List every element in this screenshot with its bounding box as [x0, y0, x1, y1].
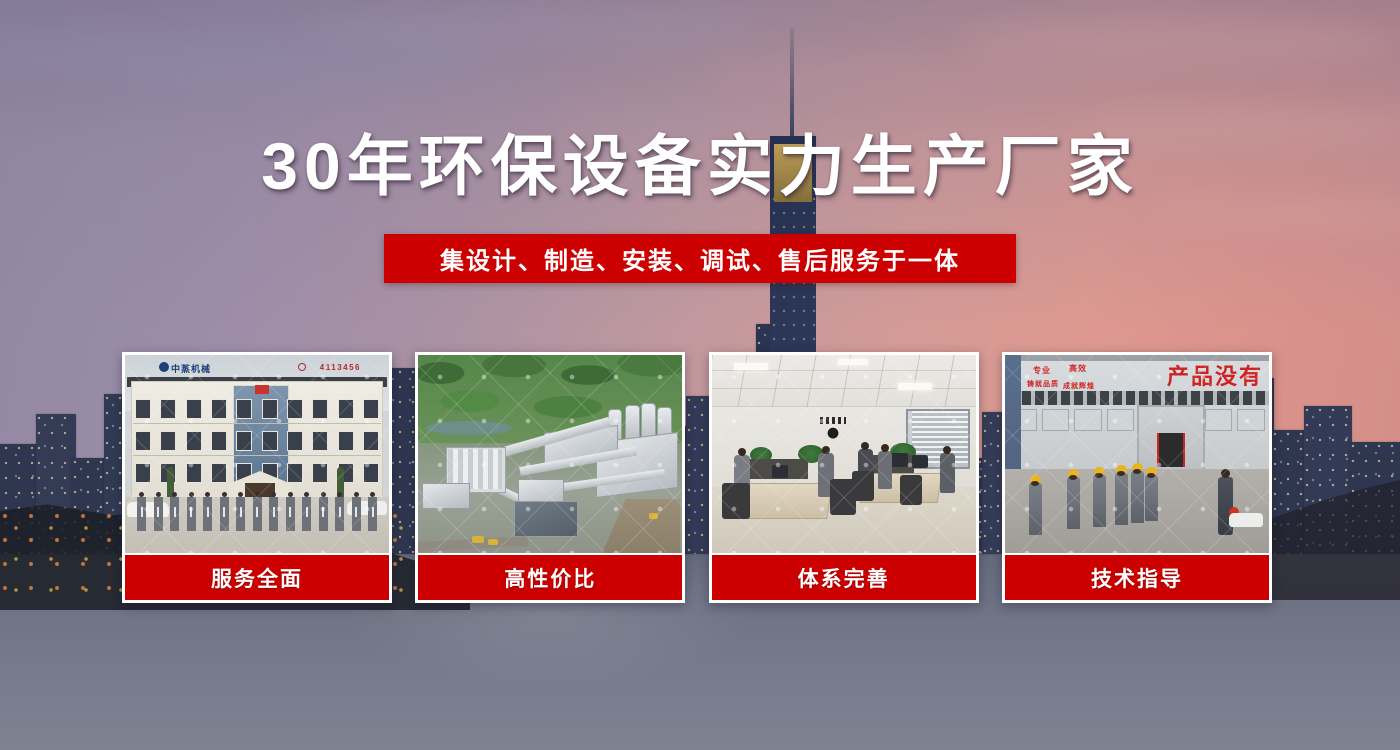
cloud-shape	[300, 8, 760, 48]
aerial-plant-photo	[418, 355, 682, 553]
parked-car	[1229, 513, 1263, 527]
company-logo-mark	[159, 362, 169, 372]
tower-spire	[790, 28, 794, 136]
wall-decal	[816, 417, 850, 443]
feature-card-label: 服务全面	[125, 555, 389, 600]
feature-card[interactable]: 高性价比	[415, 352, 685, 603]
feature-card-label: 技术指导	[1005, 555, 1269, 600]
subtitle-banner: 集设计、制造、安装、调试、售后服务于一体	[384, 234, 1016, 283]
national-flag	[255, 385, 269, 394]
subtitle-text: 集设计、制造、安装、调试、售后服务于一体	[440, 241, 960, 276]
wall-slogan-small-1: 专业	[1033, 365, 1051, 376]
staff-lineup	[137, 497, 377, 531]
feature-card-row: 中蒸机械 4113456	[122, 352, 1272, 603]
wall-slogan-small-2: 高效	[1069, 363, 1087, 374]
cloud-shape	[960, 16, 1400, 66]
wall-slogan-small-4: 成就辉煌	[1063, 381, 1095, 391]
worker-figure	[1131, 471, 1144, 523]
wall-slogan-large: 产品没有	[1167, 359, 1263, 391]
feature-card-label-text: 技术指导	[1091, 563, 1183, 593]
feature-card-label: 体系完善	[712, 555, 976, 600]
worker-figure	[1067, 477, 1080, 529]
feature-card[interactable]: 中蒸机械 4113456	[122, 352, 392, 603]
feature-card-label-text: 高性价比	[504, 563, 596, 593]
banner-stage: 30年环保设备实力生产厂家 集设计、制造、安装、调试、售后服务于一体 中蒸机械 …	[0, 0, 1400, 750]
page-title: 30年环保设备实力生产厂家	[0, 133, 1400, 199]
worker-figure	[1145, 475, 1158, 521]
worker-figure	[1093, 475, 1106, 527]
feature-card[interactable]: 体系完善	[709, 352, 979, 603]
feature-card-label: 高性价比	[418, 555, 682, 600]
company-headquarters-photo: 中蒸机械 4113456	[125, 355, 389, 553]
building-sign-text: 中蒸机械	[171, 362, 211, 375]
wall-slogan-small-3: 铸就品质	[1027, 379, 1059, 389]
worker-figure	[1029, 483, 1042, 535]
office-interior-photo	[712, 355, 976, 553]
cloud-shape	[700, 58, 1080, 94]
feature-card-label-text: 服务全面	[211, 563, 303, 593]
worker-figure	[1115, 473, 1128, 525]
cloud-shape	[120, 64, 540, 94]
phone-icon	[298, 363, 306, 371]
building-phone-number: 4113456	[320, 363, 361, 372]
feature-card-label-text: 体系完善	[798, 563, 890, 593]
workshop-training-photo: 产品没有 专业 高效 铸就品质 成就辉煌	[1005, 355, 1269, 553]
feature-card[interactable]: 产品没有 专业 高效 铸就品质 成就辉煌	[1002, 352, 1272, 603]
